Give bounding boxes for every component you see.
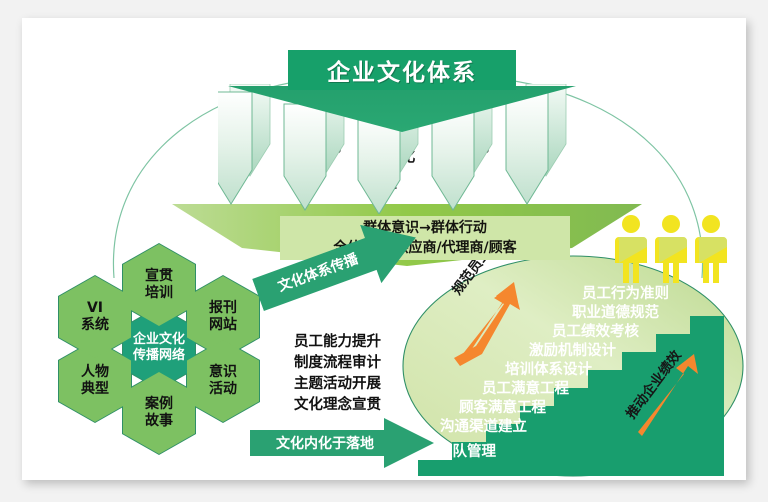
hex-center-line2: 传播网络	[133, 348, 185, 364]
measure-item-2: 主题活动开展	[294, 374, 381, 395]
hex-node-5-line2: 系统	[81, 317, 109, 334]
hex-node-1-line2: 网站	[209, 317, 237, 334]
title-banner: 企业文化体系	[288, 50, 516, 90]
hex-node-0-line1: 宣贯	[145, 268, 173, 285]
banner-wings	[228, 86, 576, 132]
stair-step-5: 员工满意工程	[482, 377, 569, 398]
person-icon-3	[694, 214, 728, 284]
stair-step-4: 培训体系设计	[505, 358, 592, 379]
measure-item-0: 员工能力提升	[294, 332, 381, 353]
stair-step-8: 团队管理	[438, 440, 496, 461]
stair-step-3: 激励机制设计	[529, 339, 616, 360]
culture-measures-list: 员工能力提升 制度流程审计 主题活动开展 文化理念宣贯	[294, 332, 381, 416]
arrow-internalize: 文化内化于落地	[250, 418, 436, 468]
hex-node-3-line2: 故事	[145, 413, 173, 430]
measure-item-1: 制度流程审计	[294, 353, 381, 374]
hex-node-5-line1: VI	[81, 300, 109, 317]
measure-item-3: 文化理念宣贯	[294, 395, 381, 416]
hex-node-2-line2: 活动	[209, 381, 237, 398]
person-icon-1	[614, 214, 648, 284]
hex-node-4-line2: 典型	[81, 381, 109, 398]
hex-node-0-line2: 培训	[145, 285, 173, 302]
stair-step-0: 员工行为准则	[582, 282, 669, 303]
stair-step-7: 沟通渠道建立	[440, 415, 527, 436]
hex-node-3-line1: 案例	[145, 396, 173, 413]
arrow-internalize-label: 文化内化于落地	[276, 433, 374, 453]
diagram-card: 群体意识→群体行动 全体员工/供应商/代理商/顾客	[22, 18, 746, 480]
stair-step-6: 顾客满意工程	[459, 396, 546, 417]
hex-node-4-line1: 人物	[81, 364, 109, 381]
hex-node-vi-xitong[interactable]: VI 系统	[59, 276, 131, 358]
hex-center-line1: 企业文化	[133, 332, 185, 348]
hex-node-1-line1: 报刊	[209, 300, 237, 317]
hex-node-yishi-huodong[interactable]: 意识 活动	[187, 340, 259, 422]
stair-step-2: 员工绩效考核	[552, 320, 639, 341]
hex-node-2-line1: 意识	[209, 364, 237, 381]
hex-node-anli-gushi[interactable]: 案例 故事	[123, 372, 195, 454]
diagram-canvas: 群体意识→群体行动 全体员工/供应商/代理商/顾客	[0, 0, 768, 502]
page-title: 企业文化体系	[327, 53, 477, 87]
stair-step-1: 职业道德规范	[572, 301, 659, 322]
person-icon-2	[654, 214, 688, 284]
